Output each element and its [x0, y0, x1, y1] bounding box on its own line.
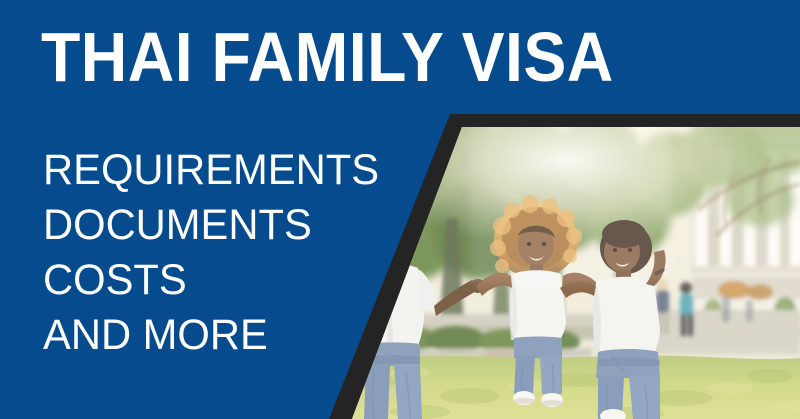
thai-family-visa-banner: THAI FAMILY VISA REQUIREMENTS DOCUMENTS … — [0, 0, 800, 419]
subtitle-line-documents: DOCUMENTS — [43, 198, 379, 253]
photo-frame — [0, 0, 800, 419]
subtitle-list: REQUIREMENTS DOCUMENTS COSTS AND MORE — [43, 143, 379, 363]
subtitle-line-and-more: AND MORE — [43, 308, 379, 363]
subtitle-line-requirements: REQUIREMENTS — [43, 143, 379, 198]
page-title: THAI FAMILY VISA — [41, 22, 614, 92]
subtitle-line-costs: COSTS — [43, 253, 379, 308]
